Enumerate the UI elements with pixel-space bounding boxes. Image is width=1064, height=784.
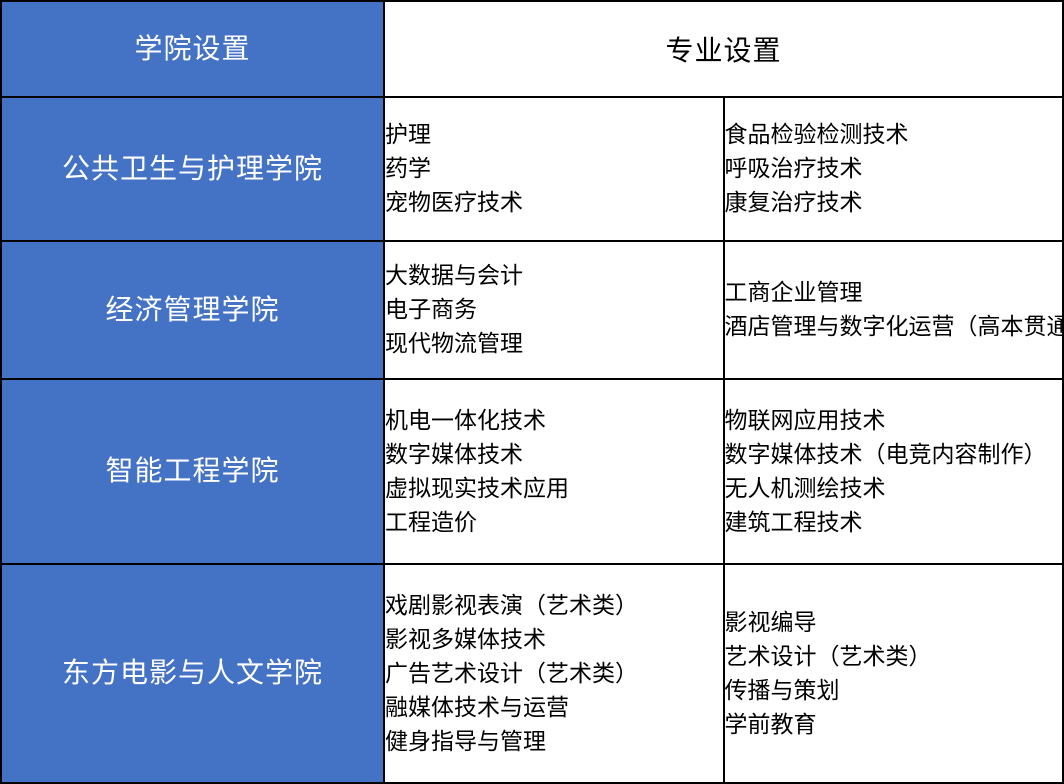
major-list: 护理 药学 宠物医疗技术 — [385, 118, 723, 220]
college-name-cell: 公共卫生与护理学院 — [1, 97, 384, 241]
list-item: 食品检验检测技术 — [725, 118, 1063, 152]
major-cell-secondary: 影视编导 艺术设计（艺术类） 传播与策划 学前教育 — [724, 564, 1064, 783]
major-cell-secondary: 物联网应用技术 数字媒体技术（电竞内容制作） 无人机测绘技术 建筑工程技术 — [724, 379, 1064, 564]
header-cell-major: 专业设置 — [384, 1, 1063, 97]
list-item: 建筑工程技术 — [725, 506, 1063, 540]
list-item: 戏剧影视表演（艺术类） — [385, 589, 723, 623]
list-item: 传播与策划 — [725, 674, 1063, 708]
college-major-table-container: 学院设置 专业设置 公共卫生与护理学院 护理 药学 宠物医疗技术 食品检验检测技… — [0, 0, 1064, 782]
major-cell-primary: 大数据与会计 电子商务 现代物流管理 — [384, 241, 724, 379]
list-item: 现代物流管理 — [385, 327, 723, 361]
major-cell-secondary: 工商企业管理 酒店管理与数字化运营（高本贯通） — [724, 241, 1064, 379]
major-list: 影视编导 艺术设计（艺术类） 传播与策划 学前教育 — [725, 606, 1063, 742]
major-cell-primary: 护理 药学 宠物医疗技术 — [384, 97, 724, 241]
list-item: 宠物医疗技术 — [385, 186, 723, 220]
list-item: 广告艺术设计（艺术类） — [385, 657, 723, 691]
list-item: 影视多媒体技术 — [385, 623, 723, 657]
major-cell-primary: 机电一体化技术 数字媒体技术 虚拟现实技术应用 工程造价 — [384, 379, 724, 564]
major-list: 机电一体化技术 数字媒体技术 虚拟现实技术应用 工程造价 — [385, 404, 723, 540]
table-row: 经济管理学院 大数据与会计 电子商务 现代物流管理 工商企业管理 酒店管理与数字… — [1, 241, 1063, 379]
list-item: 学前教育 — [725, 708, 1063, 742]
major-list: 工商企业管理 酒店管理与数字化运营（高本贯通） — [725, 276, 1063, 344]
list-item: 虚拟现实技术应用 — [385, 472, 723, 506]
list-item: 机电一体化技术 — [385, 404, 723, 438]
college-name-cell: 智能工程学院 — [1, 379, 384, 564]
college-name-cell: 东方电影与人文学院 — [1, 564, 384, 783]
major-list: 食品检验检测技术 呼吸治疗技术 康复治疗技术 — [725, 118, 1063, 220]
list-item: 康复治疗技术 — [725, 186, 1063, 220]
major-cell-secondary: 食品检验检测技术 呼吸治疗技术 康复治疗技术 — [724, 97, 1064, 241]
list-item: 电子商务 — [385, 293, 723, 327]
table-header-row: 学院设置 专业设置 — [1, 1, 1063, 97]
list-item: 艺术设计（艺术类） — [725, 640, 1063, 674]
major-list: 戏剧影视表演（艺术类） 影视多媒体技术 广告艺术设计（艺术类） 融媒体技术与运营… — [385, 589, 723, 759]
list-item: 药学 — [385, 152, 723, 186]
list-item: 无人机测绘技术 — [725, 472, 1063, 506]
list-item: 酒店管理与数字化运营（高本贯通） — [725, 310, 1063, 344]
table-body: 学院设置 专业设置 公共卫生与护理学院 护理 药学 宠物医疗技术 食品检验检测技… — [1, 1, 1063, 783]
header-cell-college: 学院设置 — [1, 1, 384, 97]
list-item: 健身指导与管理 — [385, 725, 723, 759]
list-item: 呼吸治疗技术 — [725, 152, 1063, 186]
table-row: 公共卫生与护理学院 护理 药学 宠物医疗技术 食品检验检测技术 呼吸治疗技术 康… — [1, 97, 1063, 241]
list-item: 大数据与会计 — [385, 259, 723, 293]
list-item: 数字媒体技术（电竞内容制作） — [725, 438, 1063, 472]
major-cell-primary: 戏剧影视表演（艺术类） 影视多媒体技术 广告艺术设计（艺术类） 融媒体技术与运营… — [384, 564, 724, 783]
list-item: 融媒体技术与运营 — [385, 691, 723, 725]
list-item: 影视编导 — [725, 606, 1063, 640]
major-list: 物联网应用技术 数字媒体技术（电竞内容制作） 无人机测绘技术 建筑工程技术 — [725, 404, 1063, 540]
list-item: 工程造价 — [385, 506, 723, 540]
list-item: 数字媒体技术 — [385, 438, 723, 472]
table-row: 东方电影与人文学院 戏剧影视表演（艺术类） 影视多媒体技术 广告艺术设计（艺术类… — [1, 564, 1063, 783]
college-name-cell: 经济管理学院 — [1, 241, 384, 379]
list-item: 护理 — [385, 118, 723, 152]
major-list: 大数据与会计 电子商务 现代物流管理 — [385, 259, 723, 361]
college-major-table: 学院设置 专业设置 公共卫生与护理学院 护理 药学 宠物医疗技术 食品检验检测技… — [0, 0, 1064, 784]
list-item: 物联网应用技术 — [725, 404, 1063, 438]
table-row: 智能工程学院 机电一体化技术 数字媒体技术 虚拟现实技术应用 工程造价 物联网应… — [1, 379, 1063, 564]
list-item: 工商企业管理 — [725, 276, 1063, 310]
